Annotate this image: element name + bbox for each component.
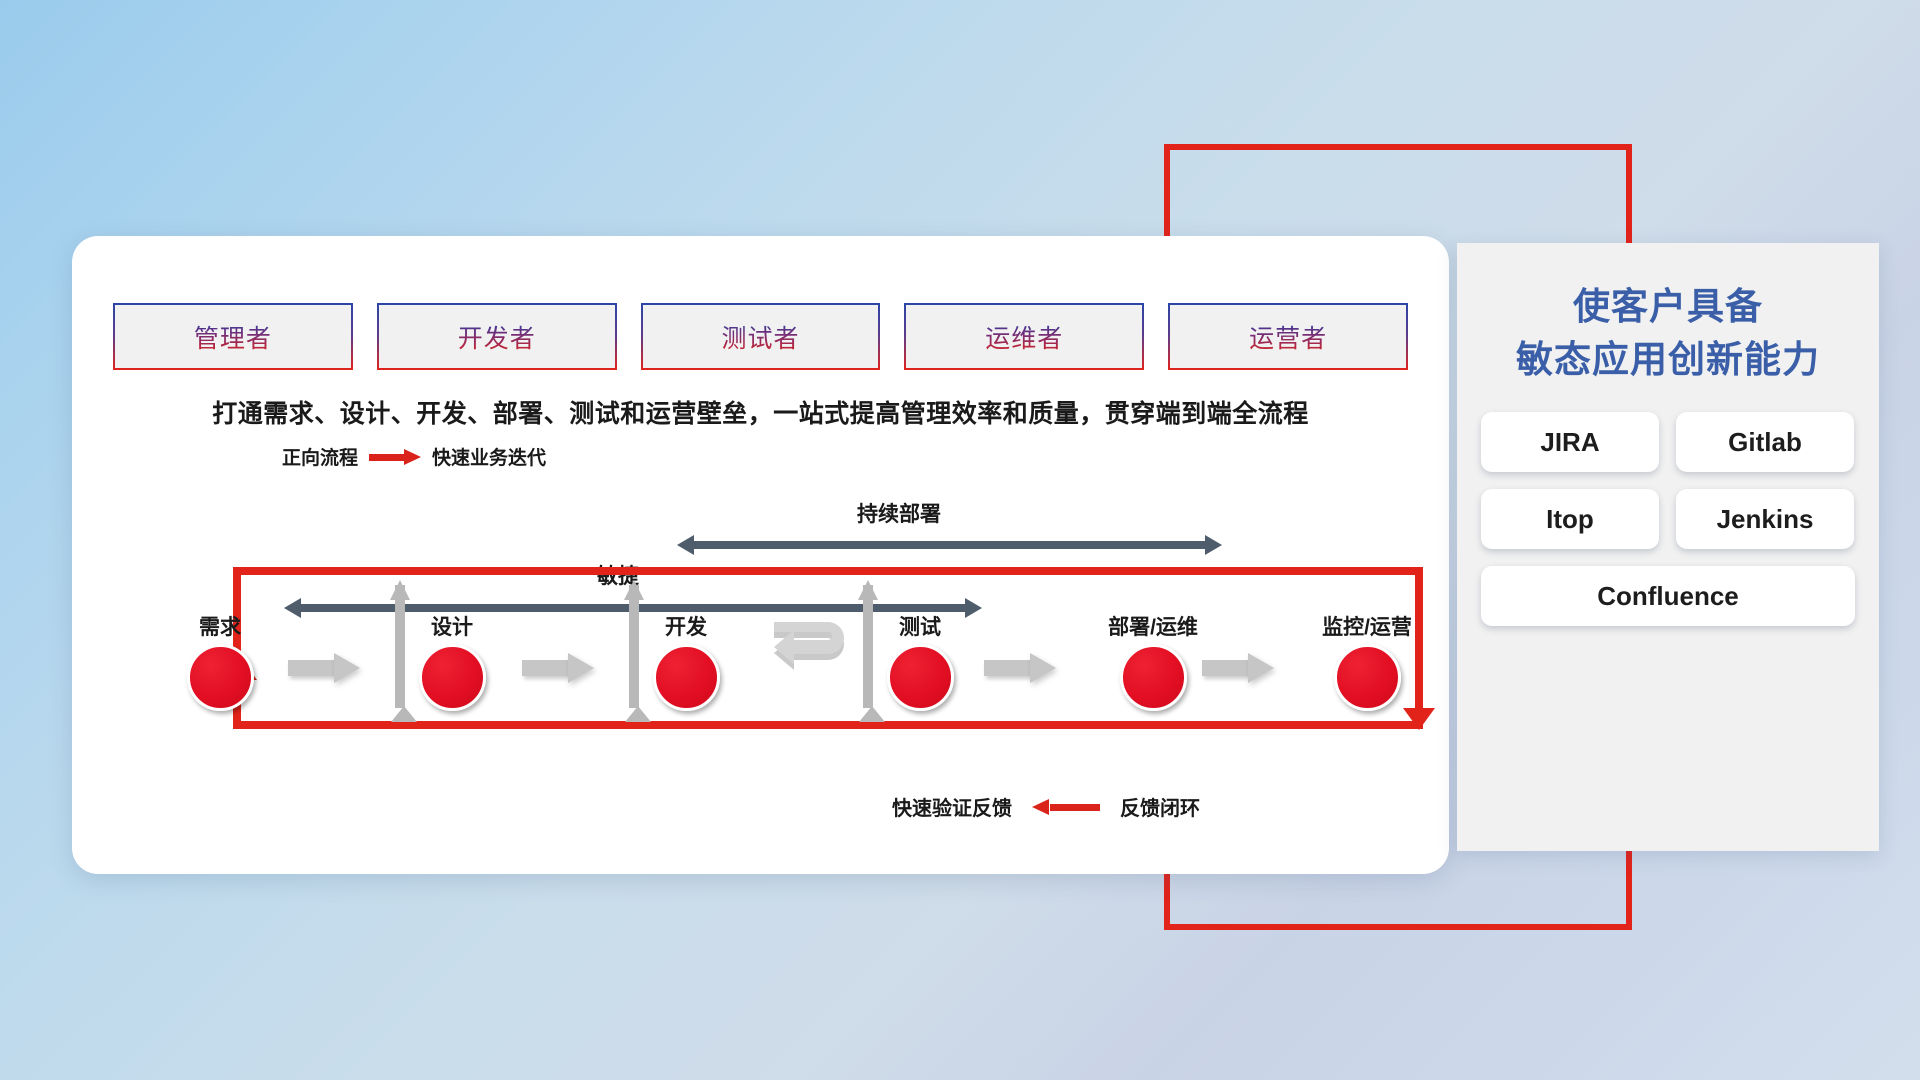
role-label: 运维者 (985, 319, 1063, 355)
stage-dot-icon (887, 644, 954, 711)
role-box-manager[interactable]: 管理者 (113, 303, 353, 370)
stage-label: 监控/运营 (1294, 611, 1440, 641)
stage-design[interactable]: 设计 (404, 611, 500, 711)
stage-dot-icon (1120, 644, 1187, 711)
tool-pill-jira[interactable]: JIRA (1481, 412, 1659, 472)
connector-arrow-icon (288, 653, 360, 683)
connector-arrow-icon (522, 653, 594, 683)
role-box-tester[interactable]: 测试者 (641, 303, 881, 370)
feedback-loop-top-segment (233, 567, 1423, 575)
red-arrow-left-icon (1032, 799, 1100, 815)
outcome-title-line1: 使客户具备 (1481, 281, 1855, 334)
tool-pill-jenkins[interactable]: Jenkins (1676, 489, 1854, 549)
role-label: 测试者 (721, 319, 799, 355)
tool-pill-gitlab[interactable]: Gitlab (1676, 412, 1854, 472)
rework-loop-icon (772, 616, 864, 688)
role-label: 运营者 (1249, 319, 1327, 355)
outcome-panel: 使客户具备 敏态应用创新能力 JIRA Gitlab Itop Jenkins … (1457, 243, 1879, 851)
stage-dot-icon (187, 644, 254, 711)
role-box-row: 管理者 开发者 测试者 运维者 运营者 (113, 303, 1408, 370)
feedback-right-label: 反馈闭环 (1120, 792, 1200, 821)
forward-flow-right-label: 快速业务迭代 (432, 443, 546, 470)
forward-flow-left-label: 正向流程 (282, 443, 358, 470)
role-box-operations[interactable]: 运营者 (1168, 303, 1408, 370)
tools-grid: JIRA Gitlab Itop Jenkins Confluence (1481, 412, 1855, 626)
role-label: 管理者 (194, 319, 272, 355)
stage-dot-icon (419, 644, 486, 711)
stage-label: 开发 (638, 611, 734, 641)
stage-dot-icon (1334, 644, 1401, 711)
stage-requirement[interactable]: 需求 (172, 611, 268, 711)
feedback-legend: 快速验证反馈 反馈闭环 (892, 792, 1200, 821)
main-flow-card: 管理者 开发者 测试者 运维者 运营者 打通需求、设计、开发、部署、测试和运营壁… (72, 236, 1449, 874)
role-label: 开发者 (458, 319, 536, 355)
tool-pill-itop[interactable]: Itop (1481, 489, 1659, 549)
connector-arrow-icon (984, 653, 1056, 683)
outcome-title-line2: 敏态应用创新能力 (1481, 334, 1855, 387)
feedback-left-label: 快速验证反馈 (892, 792, 1012, 821)
stage-test[interactable]: 测试 (872, 611, 968, 711)
stage-development[interactable]: 开发 (638, 611, 734, 711)
tool-pill-confluence[interactable]: Confluence (1481, 566, 1855, 626)
stage-label: 部署/运维 (1080, 611, 1226, 641)
agile-label: 敏捷 (597, 560, 639, 590)
forward-flow-legend: 正向流程 快速业务迭代 (282, 443, 546, 470)
description-text: 打通需求、设计、开发、部署、测试和运营壁垒，一站式提高管理效率和质量，贯穿端到端… (72, 394, 1449, 430)
connector-arrow-icon (1202, 653, 1274, 683)
stage-monitor-operations[interactable]: 监控/运营 (1294, 611, 1440, 711)
stage-label: 测试 (872, 611, 968, 641)
feedback-loop-bottom-segment (233, 721, 1423, 729)
stage-label: 需求 (172, 611, 268, 641)
red-arrow-right-icon (369, 449, 421, 465)
continuous-deployment-arrow-icon (677, 535, 1222, 555)
role-box-developer[interactable]: 开发者 (377, 303, 617, 370)
role-box-ops[interactable]: 运维者 (904, 303, 1144, 370)
continuous-deployment-label: 持续部署 (857, 498, 941, 528)
stage-dot-icon (653, 644, 720, 711)
stage-label: 设计 (404, 611, 500, 641)
